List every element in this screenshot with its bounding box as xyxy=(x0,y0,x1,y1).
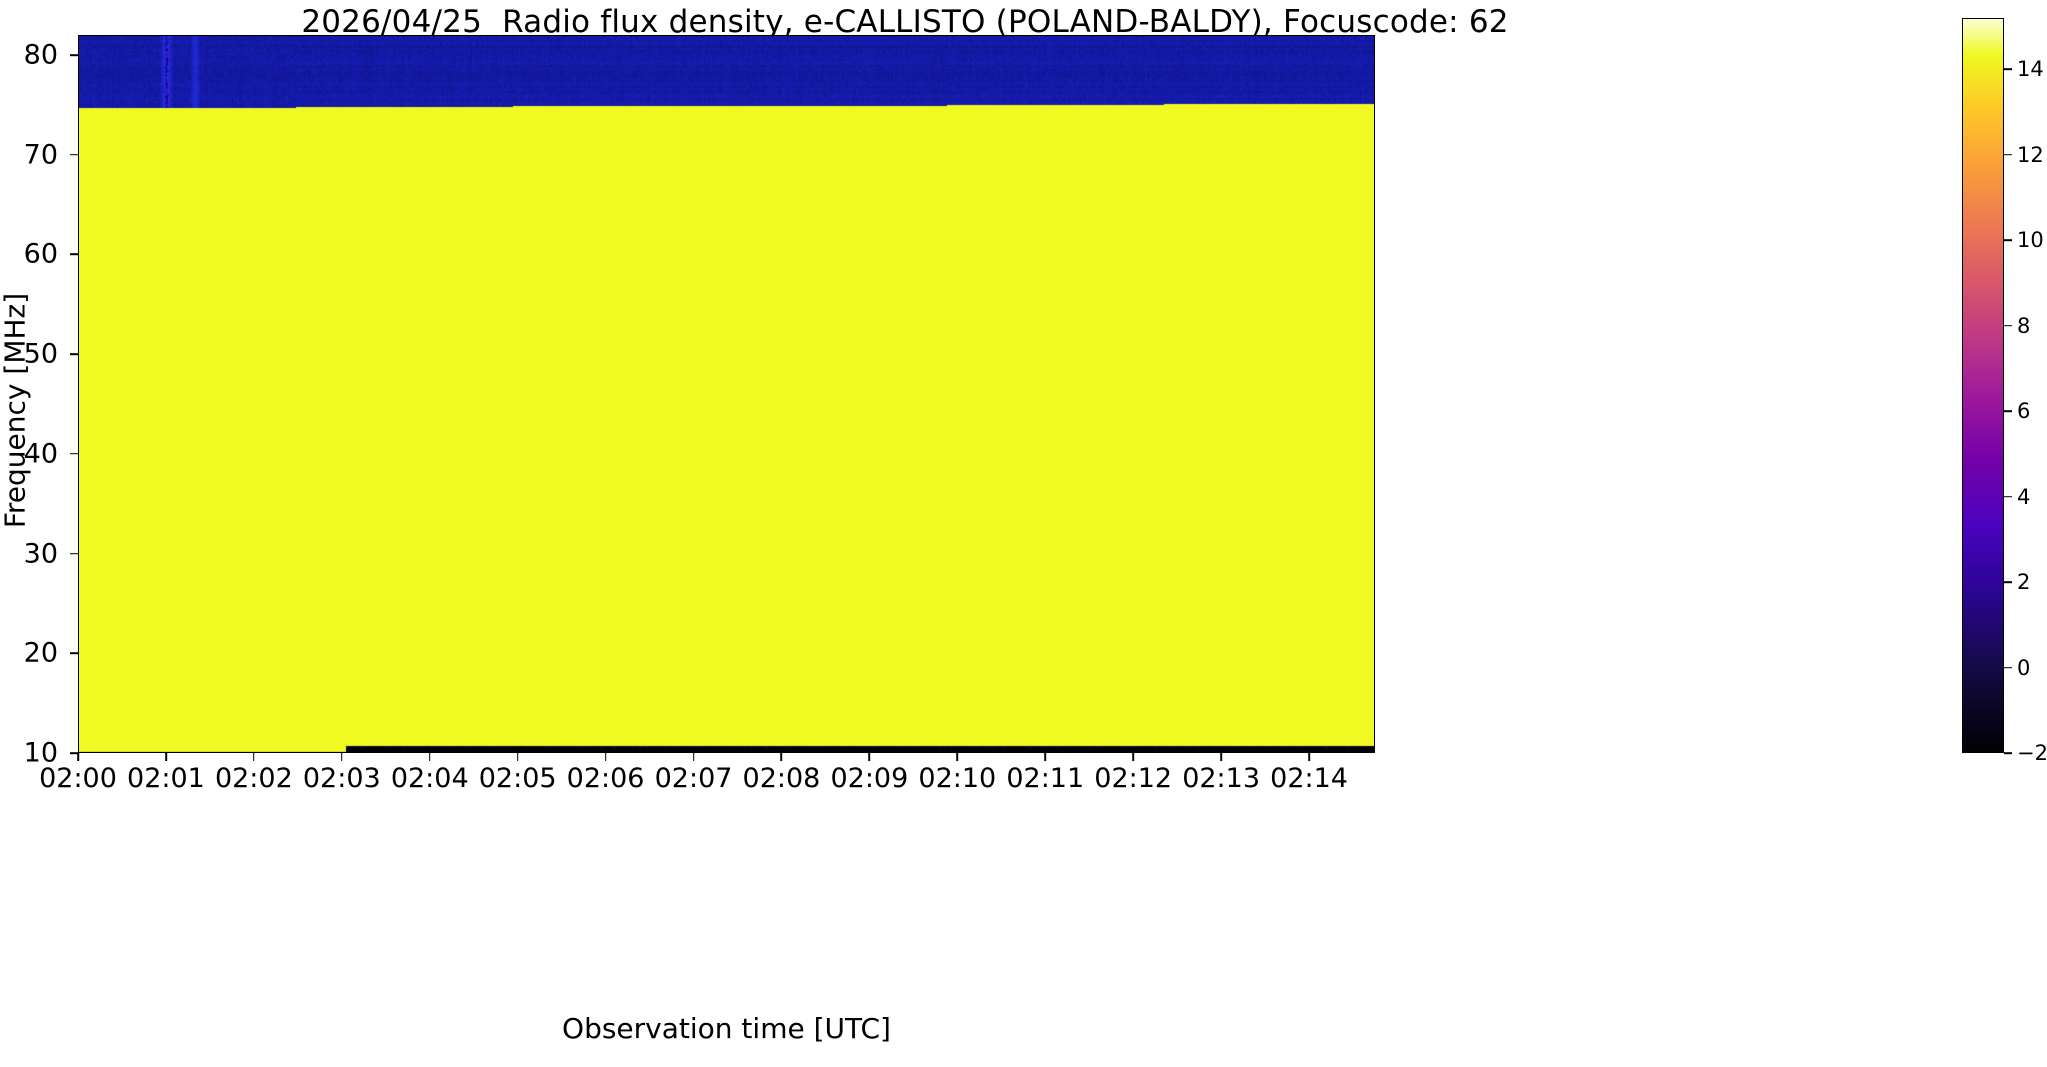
colorbar-tick-label: −2 xyxy=(2017,741,2047,765)
x-tick-mark xyxy=(605,753,607,761)
y-tick-mark xyxy=(70,154,78,156)
x-tick-label: 02:01 xyxy=(127,763,205,794)
x-tick-mark xyxy=(517,753,519,761)
x-tick-label: 02:03 xyxy=(303,763,381,794)
colorbar-tick-label: 2 xyxy=(2017,570,2030,594)
y-axis-label: Frequency [MHz] xyxy=(0,51,32,771)
x-tick-mark xyxy=(165,753,167,761)
x-tick-label: 02:07 xyxy=(655,763,733,794)
colorbar-tick-mark xyxy=(2004,752,2012,754)
colorbar-tick-mark xyxy=(2004,239,2012,241)
colorbar-tick-mark xyxy=(2004,667,2012,669)
y-tick-mark xyxy=(70,553,78,555)
colorbar-tick-label: 6 xyxy=(2017,399,2030,423)
x-tick-mark xyxy=(869,753,871,761)
colorbar-tick-mark xyxy=(2004,581,2012,583)
x-tick-label: 02:12 xyxy=(1094,763,1172,794)
x-tick-label: 02:09 xyxy=(830,763,908,794)
colorbar-tick-label: 10 xyxy=(2017,228,2044,252)
spectrogram-figure: 2026/04/25 Radio flux density, e-CALLIST… xyxy=(0,0,2047,1067)
colorbar-tick-label: 14 xyxy=(2017,57,2044,81)
colorbar-tick-mark xyxy=(2004,496,2012,498)
x-axis-ticks: 02:0002:0102:0202:0302:0402:0502:0602:07… xyxy=(78,753,1375,799)
x-tick-mark xyxy=(341,753,343,761)
x-tick-label: 02:14 xyxy=(1270,763,1348,794)
colorbar-tick-label: 0 xyxy=(2017,656,2030,680)
x-tick-mark xyxy=(781,753,783,761)
colorbar-gradient xyxy=(1963,19,2003,752)
x-axis-label: Observation time [UTC] xyxy=(78,1012,1375,1045)
x-tick-label: 02:08 xyxy=(743,763,821,794)
y-tick-mark xyxy=(70,453,78,455)
x-tick-mark xyxy=(253,753,255,761)
colorbar-tick-mark xyxy=(2004,410,2012,412)
x-tick-label: 02:13 xyxy=(1182,763,1260,794)
x-tick-label: 02:00 xyxy=(39,763,117,794)
colorbar-tick-label: 12 xyxy=(2017,143,2044,167)
colorbar-ticks: −202468101214 xyxy=(2004,18,2047,753)
x-tick-mark xyxy=(1220,753,1222,761)
y-tick-mark xyxy=(70,254,78,256)
x-tick-mark xyxy=(429,753,431,761)
colorbar-tick-mark xyxy=(2004,154,2012,156)
colorbar-tick-label: 8 xyxy=(2017,314,2030,338)
colorbar-tick-mark xyxy=(2004,325,2012,327)
y-tick-mark xyxy=(70,652,78,654)
x-tick-mark xyxy=(1132,753,1134,761)
x-tick-mark xyxy=(1044,753,1046,761)
x-tick-mark xyxy=(1308,753,1310,761)
x-tick-label: 02:02 xyxy=(215,763,293,794)
spectrogram-image xyxy=(78,35,1375,753)
colorbar-tick-mark xyxy=(2004,68,2012,70)
x-tick-label: 02:11 xyxy=(1006,763,1084,794)
colorbar-tick-label: 4 xyxy=(2017,485,2030,509)
colorbar xyxy=(1962,18,2004,753)
x-tick-label: 02:05 xyxy=(479,763,557,794)
spectrogram-canvas xyxy=(78,35,1375,753)
x-tick-label: 02:10 xyxy=(918,763,996,794)
x-tick-mark xyxy=(693,753,695,761)
x-tick-label: 02:04 xyxy=(391,763,469,794)
x-tick-mark xyxy=(77,753,79,761)
y-tick-mark xyxy=(70,54,78,56)
x-tick-label: 02:06 xyxy=(567,763,645,794)
y-tick-mark xyxy=(70,353,78,355)
x-tick-mark xyxy=(957,753,959,761)
